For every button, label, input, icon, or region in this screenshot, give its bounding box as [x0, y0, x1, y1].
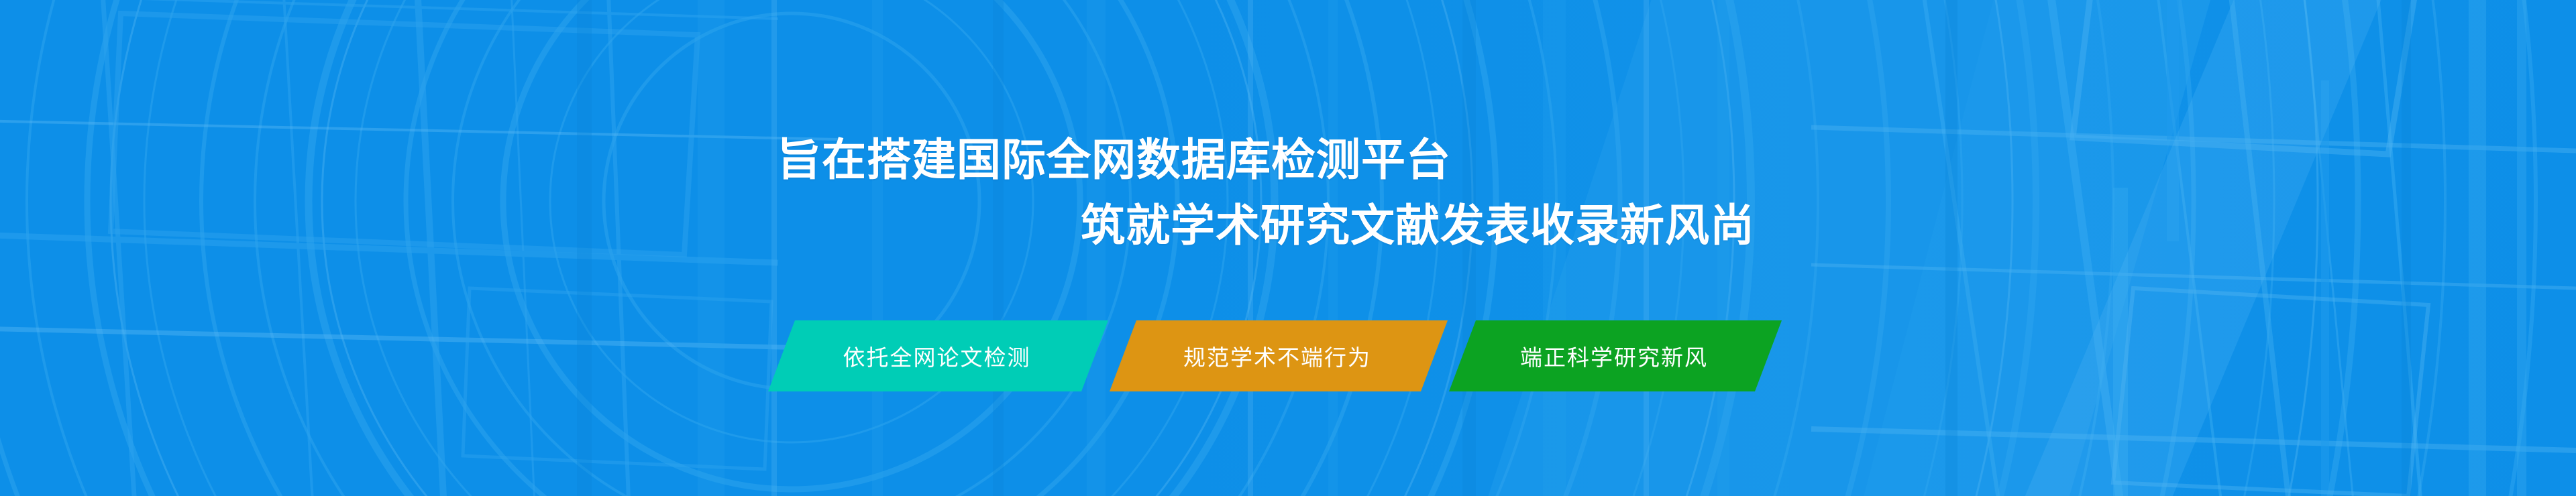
feature-tag-label: 规范学术不端行为: [1183, 340, 1371, 372]
feature-tag-label: 端正科学研究新风: [1520, 340, 1708, 372]
promo-banner: 旨在搭建国际全网数据库检测平台 筑就学术研究文献发表收录新风尚 依托全网论文检测…: [0, 0, 2576, 496]
headline-line-1: 旨在搭建国际全网数据库检测平台: [777, 138, 1451, 182]
feature-tag-strip: 依托全网论文检测 规范学术不端行为 端正科学研究新风: [768, 320, 1815, 391]
headline-line-2: 筑就学术研究文献发表收录新风尚: [1081, 204, 1755, 248]
feature-tag-label: 依托全网论文检测: [843, 340, 1031, 372]
feature-tag-research-integrity[interactable]: 端正科学研究新风: [1449, 320, 1782, 391]
feature-tag-paper-detection[interactable]: 依托全网论文检测: [768, 320, 1108, 391]
feature-tag-academic-misconduct[interactable]: 规范学术不端行为: [1110, 320, 1448, 391]
